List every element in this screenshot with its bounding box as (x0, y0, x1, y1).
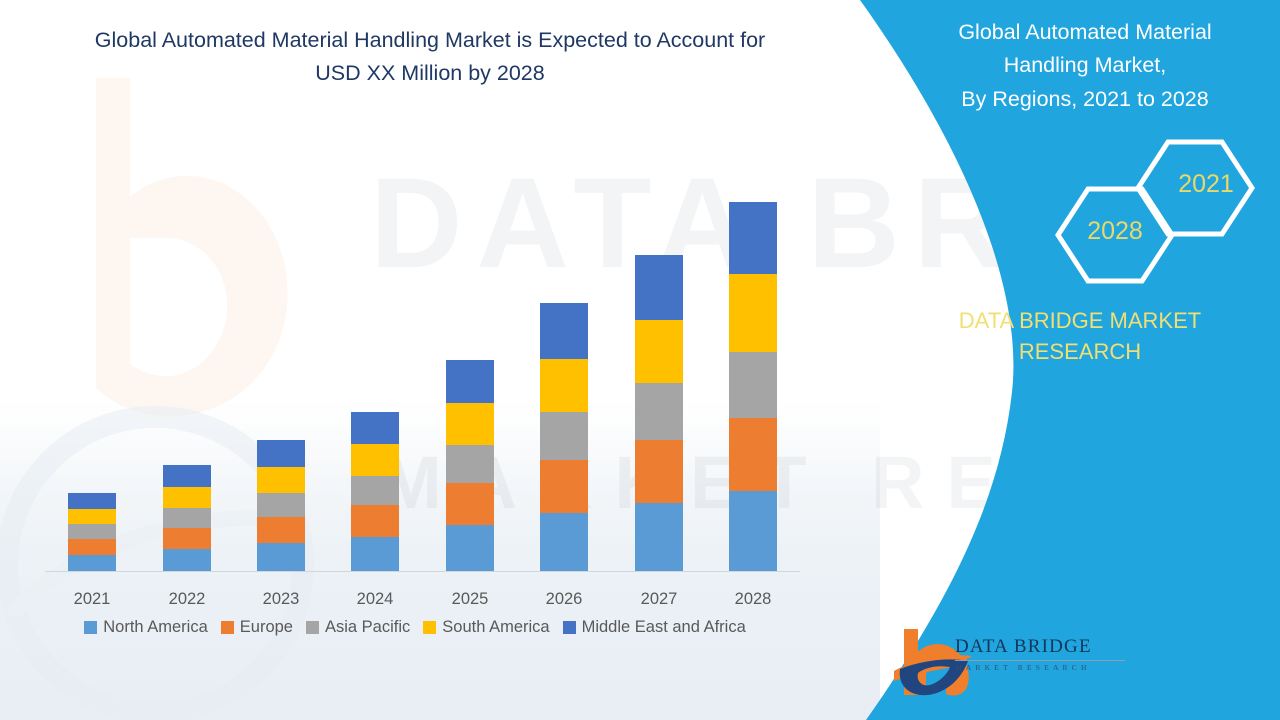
bar-segment-2021-asia-pacific[interactable] (68, 524, 116, 539)
legend-swatch-icon (423, 621, 436, 634)
legend-swatch-icon (306, 621, 319, 634)
bar-segment-2023-middle-east-and-africa[interactable] (257, 440, 305, 467)
legend-label: Middle East and Africa (582, 618, 746, 637)
x-axis-line (45, 571, 800, 572)
bar-2025[interactable] (446, 360, 494, 571)
bar-segment-2026-europe[interactable] (540, 460, 588, 513)
bar-segment-2026-asia-pacific[interactable] (540, 412, 588, 460)
bar-segment-2027-south-america[interactable] (635, 320, 683, 383)
bar-segment-2028-europe[interactable] (729, 418, 777, 491)
x-axis-label-2024: 2024 (327, 590, 423, 609)
x-axis-label-2021: 2021 (44, 590, 140, 609)
bar-2028[interactable] (729, 202, 777, 571)
bar-segment-2022-europe[interactable] (163, 528, 211, 549)
panel-title-line-2: Handling Market, (900, 49, 1270, 82)
bar-segment-2021-middle-east-and-africa[interactable] (68, 493, 116, 509)
bar-segment-2023-north-america[interactable] (257, 543, 305, 571)
x-axis-label-2023: 2023 (233, 590, 329, 609)
bar-2023[interactable] (257, 440, 305, 571)
panel-title-line-1: Global Automated Material (900, 16, 1270, 49)
panel-title-line-3: By Regions, 2021 to 2028 (900, 83, 1270, 116)
bar-segment-2024-europe[interactable] (351, 505, 399, 537)
bar-2026[interactable] (540, 303, 588, 571)
legend-label: North America (103, 618, 208, 637)
panel-brand-line-1: DATA BRIDGE MARKET (890, 305, 1270, 336)
legend-item-asia-pacific[interactable]: Asia Pacific (306, 618, 410, 637)
bar-segment-2027-middle-east-and-africa[interactable] (635, 255, 683, 320)
bar-segment-2025-south-america[interactable] (446, 403, 494, 445)
brand-b-watermark-icon (18, 78, 318, 438)
bar-2027[interactable] (635, 255, 683, 571)
hexagon-label-2021: 2021 (1168, 170, 1244, 199)
bar-segment-2021-europe[interactable] (68, 539, 116, 555)
bar-segment-2025-middle-east-and-africa[interactable] (446, 360, 494, 403)
panel-brand-line-2: RESEARCH (890, 336, 1270, 367)
chart-legend: North AmericaEuropeAsia PacificSouth Ame… (0, 618, 830, 637)
legend-label: Asia Pacific (325, 618, 410, 637)
bar-2024[interactable] (351, 412, 399, 571)
legend-item-north-america[interactable]: North America (84, 618, 208, 637)
x-axis-label-2027: 2027 (611, 590, 707, 609)
legend-swatch-icon (84, 621, 97, 634)
bar-segment-2021-south-america[interactable] (68, 509, 116, 524)
logo-divider (955, 660, 1125, 661)
legend-item-europe[interactable]: Europe (221, 618, 293, 637)
x-axis-labels: 20212022202320242025202620272028 (45, 590, 800, 614)
bar-segment-2028-middle-east-and-africa[interactable] (729, 202, 777, 274)
bar-segment-2025-asia-pacific[interactable] (446, 445, 494, 483)
bar-2022[interactable] (163, 465, 211, 571)
legend-item-south-america[interactable]: South America (423, 618, 549, 637)
bar-segment-2021-north-america[interactable] (68, 555, 116, 571)
x-axis-label-2022: 2022 (139, 590, 235, 609)
data-bridge-logo-text: DATA BRIDGE MARKET RESEARCH (955, 636, 1135, 672)
bar-segment-2025-europe[interactable] (446, 483, 494, 525)
legend-swatch-icon (563, 621, 576, 634)
bar-segment-2023-europe[interactable] (257, 517, 305, 543)
infographic-root: DATA BRIDGE MARKET RESEARCH Global Autom… (0, 0, 1280, 720)
bar-segment-2024-middle-east-and-africa[interactable] (351, 412, 399, 444)
page-title-line-1: Global Automated Material Handling Marke… (40, 24, 820, 57)
legend-label: Europe (240, 618, 293, 637)
x-axis-label-2028: 2028 (705, 590, 801, 609)
bar-segment-2026-south-america[interactable] (540, 359, 588, 412)
bar-segment-2023-south-america[interactable] (257, 467, 305, 493)
bar-segment-2028-north-america[interactable] (729, 491, 777, 571)
bar-2021[interactable] (68, 493, 116, 571)
panel-title: Global Automated Material Handling Marke… (900, 16, 1270, 116)
bar-segment-2026-north-america[interactable] (540, 513, 588, 571)
x-axis-label-2025: 2025 (422, 590, 518, 609)
right-brand-panel: Global Automated Material Handling Marke… (830, 0, 1280, 720)
x-axis-label-2026: 2026 (516, 590, 612, 609)
legend-label: South America (442, 618, 549, 637)
panel-brand-text: DATA BRIDGE MARKET RESEARCH (890, 305, 1270, 367)
bar-segment-2026-middle-east-and-africa[interactable] (540, 303, 588, 359)
hexagon-label-2028: 2028 (1077, 217, 1153, 246)
page-title-line-2: USD XX Million by 2028 (40, 57, 820, 90)
bar-segment-2024-north-america[interactable] (351, 537, 399, 571)
bar-segment-2027-europe[interactable] (635, 440, 683, 503)
bar-segment-2022-middle-east-and-africa[interactable] (163, 465, 211, 487)
bar-segment-2023-asia-pacific[interactable] (257, 493, 305, 517)
legend-item-middle-east-and-africa[interactable]: Middle East and Africa (563, 618, 746, 637)
page-title: Global Automated Material Handling Marke… (40, 24, 820, 89)
bar-segment-2028-asia-pacific[interactable] (729, 352, 777, 418)
bar-segment-2022-north-america[interactable] (163, 549, 211, 571)
logo-title: DATA BRIDGE (955, 636, 1135, 658)
bar-segment-2027-asia-pacific[interactable] (635, 383, 683, 440)
bar-segment-2025-north-america[interactable] (446, 525, 494, 571)
hexagon-badges: 2021 2028 (960, 130, 1260, 290)
bar-segment-2024-south-america[interactable] (351, 444, 399, 476)
legend-swatch-icon (221, 621, 234, 634)
logo-subtitle: MARKET RESEARCH (955, 663, 1135, 672)
bar-segment-2027-north-america[interactable] (635, 503, 683, 571)
bar-segment-2028-south-america[interactable] (729, 274, 777, 352)
bar-segment-2024-asia-pacific[interactable] (351, 476, 399, 505)
bar-segment-2022-asia-pacific[interactable] (163, 508, 211, 528)
bar-segment-2022-south-america[interactable] (163, 487, 211, 508)
